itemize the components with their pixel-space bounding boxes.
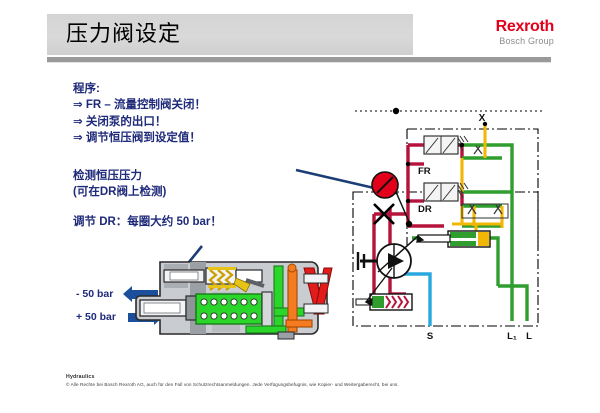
check-pressure-note: 检测恒压压力 (可在DR阀上检测): [73, 168, 166, 200]
check-pressure-line-1: 检测恒压压力: [73, 168, 166, 184]
return-spring-cylinder: [356, 294, 412, 310]
check-pressure-line-2: (可在DR阀上检测): [73, 184, 166, 200]
schematic-label-l: L: [526, 331, 532, 341]
valve-adjustment-screw: [140, 296, 196, 320]
valve-bottom-bracket: [278, 332, 294, 339]
procedure-item-1: ⇒ FR – 流量控制阀关闭！: [73, 97, 206, 114]
footer-product: Hydraulics: [66, 374, 399, 380]
footer: Hydraulics © Alle Rechte bei Bosch Rexro…: [66, 374, 399, 387]
rexroth-logo: Rexroth Bosch Group: [496, 18, 554, 47]
pump-symbol: [358, 236, 418, 278]
schematic-label-s: S: [427, 331, 433, 341]
procedure-item-3: ⇒ 调节恒压阀到设定值！: [73, 130, 206, 147]
schematic-label-fr: FR: [418, 166, 431, 177]
procedure-heading: 程序:: [73, 80, 100, 96]
slide-canvas: 压力阀设定 Rexroth Bosch Group 程序: ⇒ FR – 流量控…: [0, 0, 600, 413]
logo-subtitle: Bosch Group: [496, 36, 554, 47]
valve-cutaway-illustration: [128, 248, 338, 348]
header-rule-shadow: [47, 62, 551, 63]
logo-wordmark: Rexroth: [496, 18, 554, 35]
procedure-list: ⇒ FR – 流量控制阀关闭！ ⇒ 关闭泵的出口！ ⇒ 调节恒压阀到设定值！: [73, 97, 206, 147]
bar-label-minus: - 50 bar: [76, 288, 113, 300]
schematic-label-dr: DR: [418, 204, 432, 215]
schematic-label-x: X: [479, 113, 486, 124]
dr-adjust-note: 调节 DR：每圈大约 50 bar！: [73, 213, 222, 229]
main-spring-chamber: [196, 292, 272, 326]
page-title: 压力阀设定: [66, 22, 181, 48]
hydraulic-circuit-schematic: X FR DR S L₁ L: [352, 96, 592, 341]
procedure-item-2: ⇒ 关闭泵的出口！: [73, 114, 206, 131]
schematic-label-l1: L₁: [507, 331, 517, 341]
bar-label-plus: + 50 bar: [76, 311, 116, 323]
control-cylinder: [418, 231, 490, 247]
footer-copyright: © Alle Rechte bei Bosch Rexroth AG, auch…: [66, 382, 399, 387]
